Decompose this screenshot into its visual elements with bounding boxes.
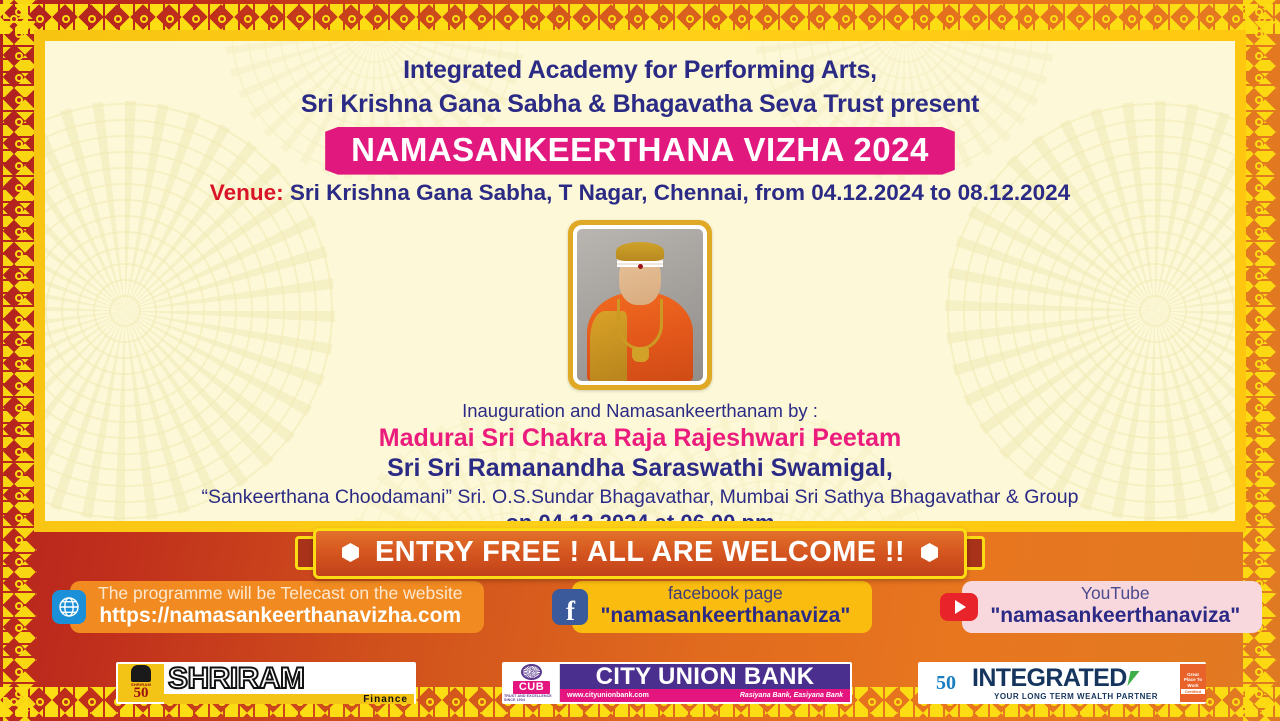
sponsor-logo-integrated: 50 INTEGRATED YOUR LONG TERM WEALTH PART… (918, 662, 1206, 704)
facebook-handle[interactable]: "namasankeerthanaviza" (600, 604, 850, 628)
cub-wordmark: CITY UNION BANK (560, 664, 850, 689)
sponsor-logo-city-union-bank: CUB TRUST AND EXCELLENCE SINCE 1904 CITY… (502, 662, 852, 704)
gold-frame: Integrated Academy for Performing Arts, … (34, 30, 1246, 532)
swamigal-name: Sri Sri Ramanandha Saraswathi Swamigal, (45, 454, 1235, 483)
checkmark-icon (1127, 671, 1139, 686)
venue-label: Venue: (210, 180, 284, 205)
youtube-icon (940, 593, 978, 621)
swamigal-portrait (577, 229, 703, 381)
facebook-caption: facebook page (600, 584, 850, 604)
cub-seal-icon (521, 664, 542, 680)
great-place-to-work-badge: Great Place To Work Certified (1180, 664, 1206, 702)
shriram-figure-icon (131, 665, 151, 682)
shriram-anniversary-number: 50 (134, 687, 149, 701)
integrated-tagline: YOUR LONG TERM WEALTH PARTNER (972, 692, 1180, 701)
integrated-anniversary-number: 50 (920, 664, 972, 702)
cream-panel: Integrated Academy for Performing Arts, … (45, 41, 1235, 521)
presenter-line-2: Sri Krishna Gana Sabha & Bhagavatha Seva… (45, 87, 1235, 121)
entry-free-ribbon: ENTRY FREE ! ALL ARE WELCOME !! (313, 528, 967, 579)
artists-line: “Sankeerthana Choodamani” Sri. O.S.Sunda… (45, 486, 1235, 509)
venue-line: Venue: Sri Krishna Gana Sabha, T Nagar, … (45, 180, 1235, 206)
cub-acronym: CUB (513, 681, 550, 694)
cub-seal-tagline: TRUST AND EXCELLENCE SINCE 1904 (504, 694, 559, 702)
cub-website: www.cityunionbank.com (567, 692, 649, 699)
youtube-caption: YouTube (990, 584, 1240, 604)
shriram-wordmark: SHRIRAM (164, 664, 414, 694)
hexagon-bullet-icon (921, 543, 938, 562)
event-datetime: on 04.12.2024 at 06.00 pm (45, 510, 1235, 521)
venue-text: Sri Krishna Gana Sabha, T Nagar, Chennai… (290, 180, 1070, 205)
inauguration-byline: Inauguration and Namasankeerthanam by : (45, 400, 1235, 422)
cub-slogan: Rasiyana Bank, Easiyana Bank (740, 692, 843, 699)
facebook-icon: f (552, 589, 588, 625)
website-link[interactable]: The programme will be Telecast on the we… (52, 581, 484, 632)
website-url[interactable]: https://namasankeerthanavizha.com (98, 604, 462, 628)
youtube-handle[interactable]: "namasankeerthanaviza" (990, 604, 1240, 628)
presenter-line-1: Integrated Academy for Performing Arts, (45, 53, 1235, 87)
shriram-subtitle: Finance (363, 694, 408, 704)
peetam-name: Madurai Sri Chakra Raja Rajeshwari Peeta… (45, 424, 1235, 453)
sponsor-logo-shriram-finance: SHRIRAM 50 SHRIRAM Finance (116, 662, 416, 704)
event-poster: Integrated Academy for Performing Arts, … (0, 0, 1280, 721)
youtube-link[interactable]: YouTube "namasankeerthanaviza" (940, 581, 1262, 632)
globe-icon (52, 590, 86, 624)
entry-free-text: ENTRY FREE ! ALL ARE WELCOME !! (375, 536, 905, 569)
event-title: NAMASANKEERTHANA VIZHA 2024 (325, 127, 955, 175)
integrated-wordmark: INTEGRATED (972, 666, 1180, 691)
portrait-frame (568, 220, 712, 390)
shriram-anniversary-badge: SHRIRAM 50 (118, 664, 164, 702)
hexagon-bullet-icon (342, 543, 359, 562)
facebook-link[interactable]: f facebook page "namasankeerthanaviza" (552, 581, 872, 632)
website-caption: The programme will be Telecast on the we… (98, 584, 462, 604)
